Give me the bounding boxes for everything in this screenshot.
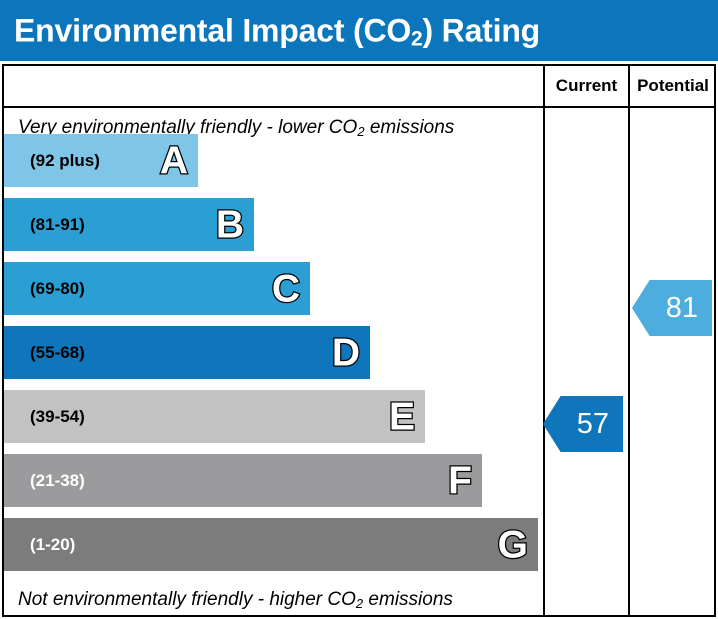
page-title: Environmental Impact (CO2) Rating: [14, 12, 540, 49]
band-range-e: (39-54): [30, 407, 85, 427]
band-range-c: (69-80): [30, 279, 85, 299]
band-row-b: (81-91) B: [4, 198, 254, 251]
caption-bottom: Not environmentally friendly - higher CO…: [18, 589, 538, 611]
band-row-g: (1-20) G: [4, 518, 538, 571]
band-letter-f: F: [448, 461, 472, 500]
band-letter-c: C: [272, 269, 300, 308]
caption-bottom-suffix: emissions: [363, 589, 453, 610]
caption-bottom-prefix: Not environmentally friendly - higher CO: [18, 589, 356, 610]
potential-rating-arrow: 81: [632, 280, 712, 336]
column-divider-potential: [628, 66, 630, 615]
caption-bottom-subscript: 2: [356, 596, 363, 611]
caption-top-subscript: 2: [357, 124, 364, 139]
band-row-f: (21-38) F: [4, 454, 482, 507]
band-scale: Very environmentally friendly - lower CO…: [4, 108, 541, 617]
band-letter-a: A: [160, 141, 188, 180]
column-divider-current: [543, 66, 545, 615]
band-letter-e: E: [389, 397, 415, 436]
epc-environmental-impact-chart: Environmental Impact (CO2) Rating Curren…: [0, 0, 718, 619]
band-range-b: (81-91): [30, 215, 85, 235]
caption-top-suffix: emissions: [365, 117, 455, 138]
current-rating-arrow: 57: [543, 396, 623, 452]
band-range-a: (92 plus): [30, 151, 100, 171]
band-letter-g: G: [498, 525, 528, 564]
chart-title-bar: Environmental Impact (CO2) Rating: [0, 0, 718, 61]
column-header-potential: Potential: [630, 66, 716, 106]
band-range-f: (21-38): [30, 471, 85, 491]
band-row-c: (69-80) C: [4, 262, 310, 315]
title-subscript: 2: [411, 27, 422, 50]
band-row-d: (55-68) D: [4, 326, 370, 379]
potential-rating-value: 81: [666, 292, 698, 325]
title-suffix: ) Rating: [423, 12, 541, 48]
band-range-g: (1-20): [30, 535, 75, 555]
column-header-current: Current: [545, 66, 628, 106]
title-prefix: Environmental Impact (CO: [14, 12, 411, 48]
band-row-a: (92 plus) A: [4, 134, 198, 187]
band-range-d: (55-68): [30, 343, 85, 363]
band-letter-d: D: [332, 333, 360, 372]
band-letter-b: B: [216, 205, 244, 244]
current-rating-value: 57: [577, 408, 609, 441]
band-row-e: (39-54) E: [4, 390, 425, 443]
rating-table: Current Potential Very environmentally f…: [2, 64, 716, 617]
